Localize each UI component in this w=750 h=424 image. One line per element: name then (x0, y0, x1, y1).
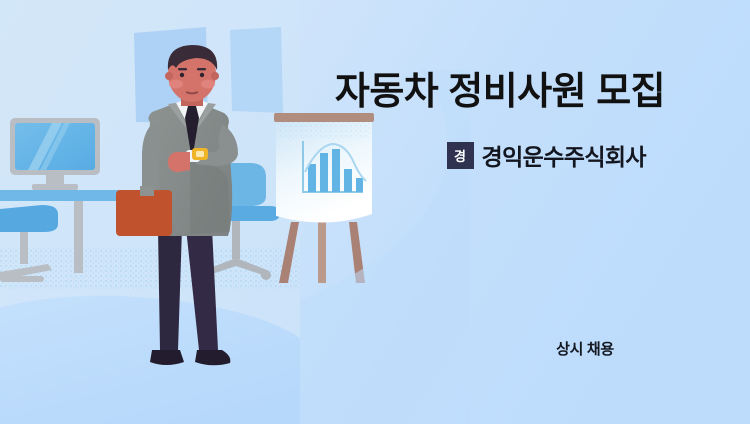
hiring-status-label: 상시 채용 (480, 338, 690, 359)
company-badge-icon: 경 (447, 142, 474, 169)
briefcase (116, 190, 172, 236)
easel-top-rail (274, 113, 374, 122)
wall-poster-right (230, 27, 283, 113)
ear-left (165, 72, 173, 80)
scene-illustration (0, 0, 750, 424)
shoe-left (150, 350, 184, 365)
page-title: 자동차 정비사원 모집 (300, 72, 700, 114)
trouser-left (158, 228, 182, 350)
cheek-right (201, 80, 215, 89)
easel-leg-center (318, 222, 326, 283)
hand-right (168, 152, 190, 172)
eyebrow-left (178, 68, 187, 70)
company-row: 경 경익운수주식회사 (300, 138, 700, 172)
cheek-left (169, 80, 183, 89)
recruitment-poster: 자동차 정비사원 모집 경 경익운수주식회사 상시 채용 (0, 0, 750, 424)
eye-left (180, 73, 184, 77)
ear-right (211, 72, 219, 80)
eye-right (200, 73, 204, 77)
briefcase-handle (140, 186, 154, 196)
company-name: 경익운수주식회사 (482, 138, 646, 172)
watch-face (196, 151, 204, 157)
shoe-right (195, 350, 230, 365)
eyebrow-right (197, 68, 206, 70)
